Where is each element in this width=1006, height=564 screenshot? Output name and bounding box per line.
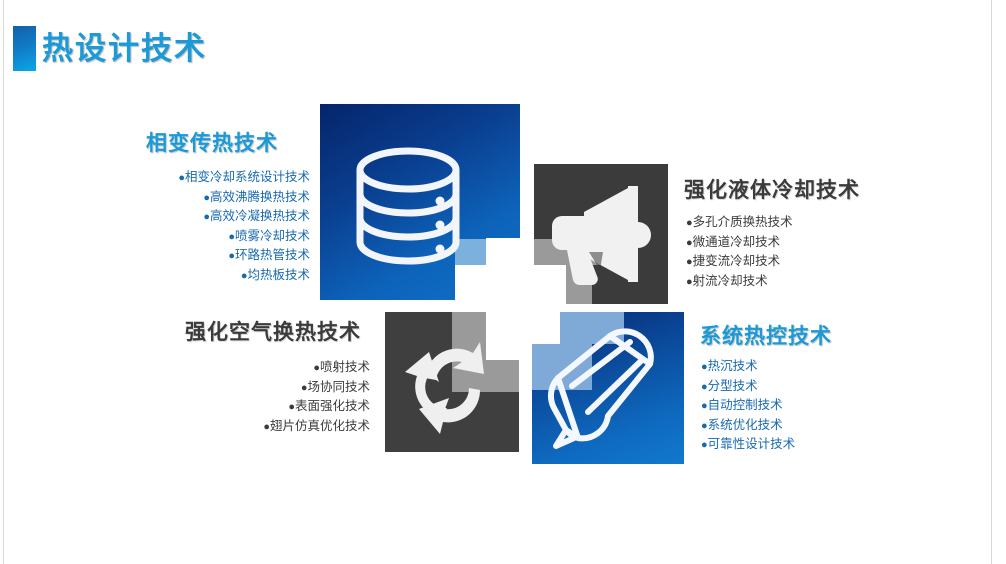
list-item: ●相变冷却系统设计技术 [110,168,310,188]
list-item: ●捷变流冷却技术 [686,252,906,272]
bullet-icon: ● [701,361,708,373]
section-bullets-phase-change: ●相变冷却系统设计技术 ●高效沸腾换热技术 ●高效冷凝换热技术 ●喷雾冷却技术 … [110,168,310,285]
bullet-icon: ● [686,276,693,288]
bullet-icon: ● [701,400,708,412]
section-bullets-air-heat-exchange: ●喷射技术 ●场协同技术 ●表面强化技术 ●翅片仿真优化技术 [175,358,370,436]
page-title: 热设计技术 [42,26,442,72]
list-item: ●多孔介质换热技术 [686,213,906,233]
pencil-icon [532,312,684,464]
slide-left-border [3,0,4,564]
list-item: ●射流冷却技术 [686,272,906,292]
list-item: ●自动控制技术 [701,396,921,416]
list-item: ●环路热管技术 [110,246,310,266]
section-title-air-heat-exchange: 强化空气换热技术 [185,316,361,346]
list-item: ●分型技术 [701,377,921,397]
section-bullets-liquid-cooling: ●多孔介质换热技术 ●微通道冷却技术 ●捷变流冷却技术 ●射流冷却技术 [686,213,906,291]
list-item: ●场协同技术 [175,378,370,398]
list-item: ●喷雾冷却技术 [110,227,310,247]
bullet-icon: ● [701,381,708,393]
bullet-icon: ● [228,250,235,262]
list-item: ●系统优化技术 [701,416,921,436]
section-title-phase-change: 相变传热技术 [146,127,278,157]
bullet-icon: ● [263,421,270,433]
bullet-icon: ● [686,237,693,249]
center-gap-horizontal [455,265,534,312]
section-bullets-system-thermal-control: ●热沉技术 ●分型技术 ●自动控制技术 ●系统优化技术 ●可靠性设计技术 [701,357,921,455]
list-item: ●高效沸腾换热技术 [110,188,310,208]
bullet-icon: ● [228,231,235,243]
bullet-icon: ● [701,420,708,432]
bullet-icon: ● [701,439,708,451]
bullet-icon: ● [178,172,185,184]
bullet-icon: ● [686,217,693,229]
title-accent-bar [13,26,36,71]
section-title-system-thermal-control: 系统热控技术 [700,320,832,350]
list-item: ●翅片仿真优化技术 [175,417,370,437]
slide-right-border [991,0,992,564]
bullet-icon: ● [203,192,210,204]
bullet-icon: ● [203,211,210,223]
megaphone-icon [534,164,668,304]
recycle-icon [385,312,519,452]
tile-pencil [532,312,684,464]
list-item: ●均热板技术 [110,266,310,286]
list-item: ●可靠性设计技术 [701,435,921,455]
list-item: ●高效冷凝换热技术 [110,207,310,227]
bullet-icon: ● [313,362,320,374]
list-item: ●微通道冷却技术 [686,233,906,253]
section-title-liquid-cooling: 强化液体冷却技术 [684,174,860,204]
list-item: ●喷射技术 [175,358,370,378]
slide-canvas: 热设计技术 [0,0,1006,564]
list-item: ●表面强化技术 [175,397,370,417]
bullet-icon: ● [288,401,295,413]
tile-recycle [385,312,519,452]
tile-megaphone [534,164,668,304]
bullet-icon: ● [686,256,693,268]
list-item: ●热沉技术 [701,357,921,377]
